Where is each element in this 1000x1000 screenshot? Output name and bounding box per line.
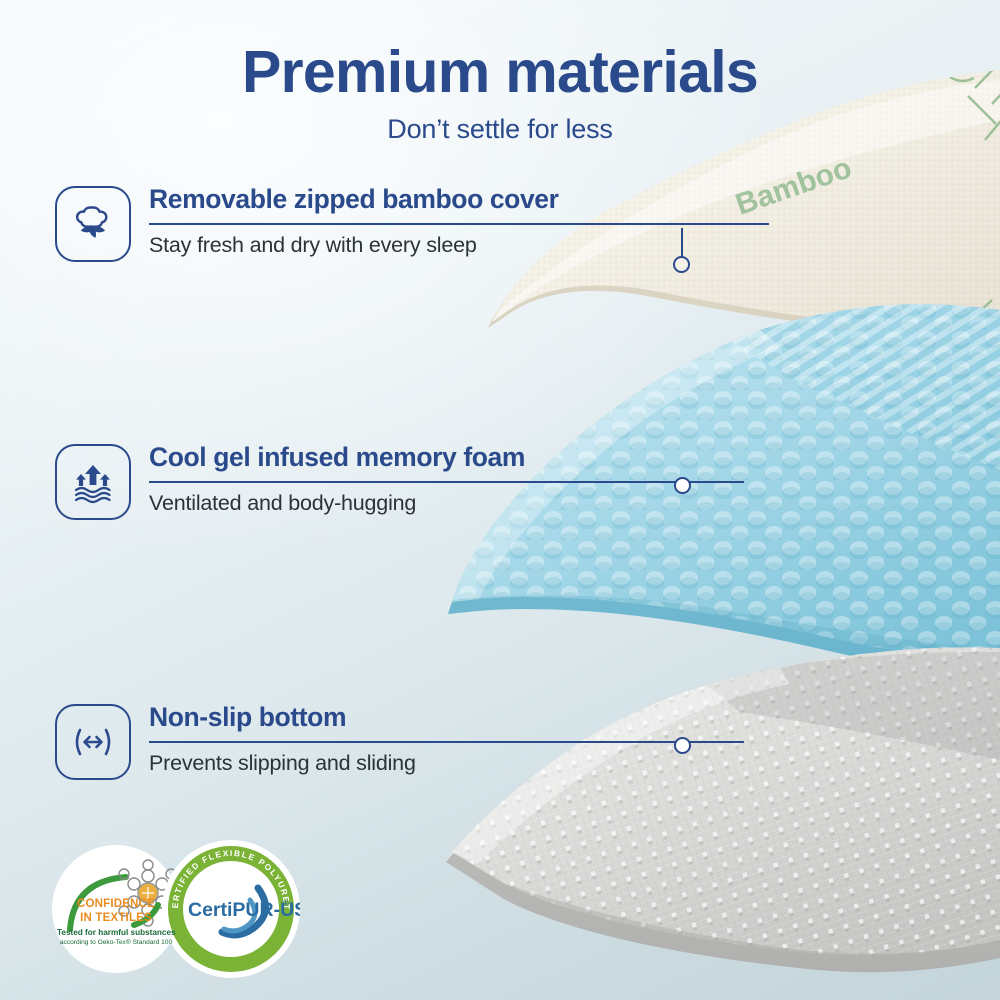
feature-gel-foam: Cool gel infused memory foam Ventilated … — [55, 440, 744, 520]
oeko-line-2: IN TEXTILES — [57, 912, 175, 926]
feature-title: Removable zipped bamboo cover — [149, 184, 769, 214]
certification-badges: CONFIDENCE IN TEXTILES Tested for harmfu… — [52, 840, 300, 978]
oeko-tex-badge: CONFIDENCE IN TEXTILES Tested for harmfu… — [52, 845, 180, 973]
non-slip-base-layer — [420, 630, 1000, 980]
feature-subtitle: Prevents slipping and sliding — [149, 751, 744, 776]
oeko-line-3: Tested for harmful substances — [57, 928, 175, 937]
oeko-line-1: CONFIDENCE — [57, 898, 175, 912]
feature-text: Non-slip bottom Prevents slipping and sl… — [149, 700, 744, 776]
connector-line-vertical-1 — [681, 228, 683, 258]
feature-text: Cool gel infused memory foam Ventilated … — [149, 440, 744, 516]
oeko-tex-text: CONFIDENCE IN TEXTILES Tested for harmfu… — [57, 872, 175, 946]
connector-dot-bamboo-cover — [673, 256, 690, 273]
oeko-line-4: according to Oeko-Tex® Standard 100 — [57, 939, 175, 946]
certipur-us-badge: CONTAINS CERTIFIED FLEXIBLE POLYURETHANE… — [162, 840, 300, 978]
feature-bamboo-cover: Removable zipped bamboo cover Stay fresh… — [55, 182, 769, 262]
feature-subtitle: Ventilated and body-hugging — [149, 491, 744, 516]
feature-divider — [149, 481, 744, 483]
feature-title: Cool gel infused memory foam — [149, 442, 744, 472]
feature-divider — [149, 741, 744, 743]
feature-title: Non-slip bottom — [149, 702, 744, 732]
certipur-registered-mark: ® — [283, 899, 289, 908]
header: Premium materials Don’t settle for less — [0, 42, 1000, 145]
feature-subtitle: Stay fresh and dry with every sleep — [149, 233, 769, 258]
infographic-canvas: Bamboo — [0, 0, 1000, 1000]
cotton-boll-icon — [55, 186, 131, 262]
connector-dot-gel-foam — [674, 477, 691, 494]
feature-non-slip: Non-slip bottom Prevents slipping and sl… — [55, 700, 744, 780]
airflow-arrows-icon — [55, 444, 131, 520]
page-subtitle: Don’t settle for less — [0, 114, 1000, 145]
feature-text: Removable zipped bamboo cover Stay fresh… — [149, 182, 769, 258]
feature-divider — [149, 223, 769, 225]
connector-dot-non-slip — [674, 737, 691, 754]
horizontal-arrow-icon — [55, 704, 131, 780]
page-title: Premium materials — [0, 42, 1000, 104]
